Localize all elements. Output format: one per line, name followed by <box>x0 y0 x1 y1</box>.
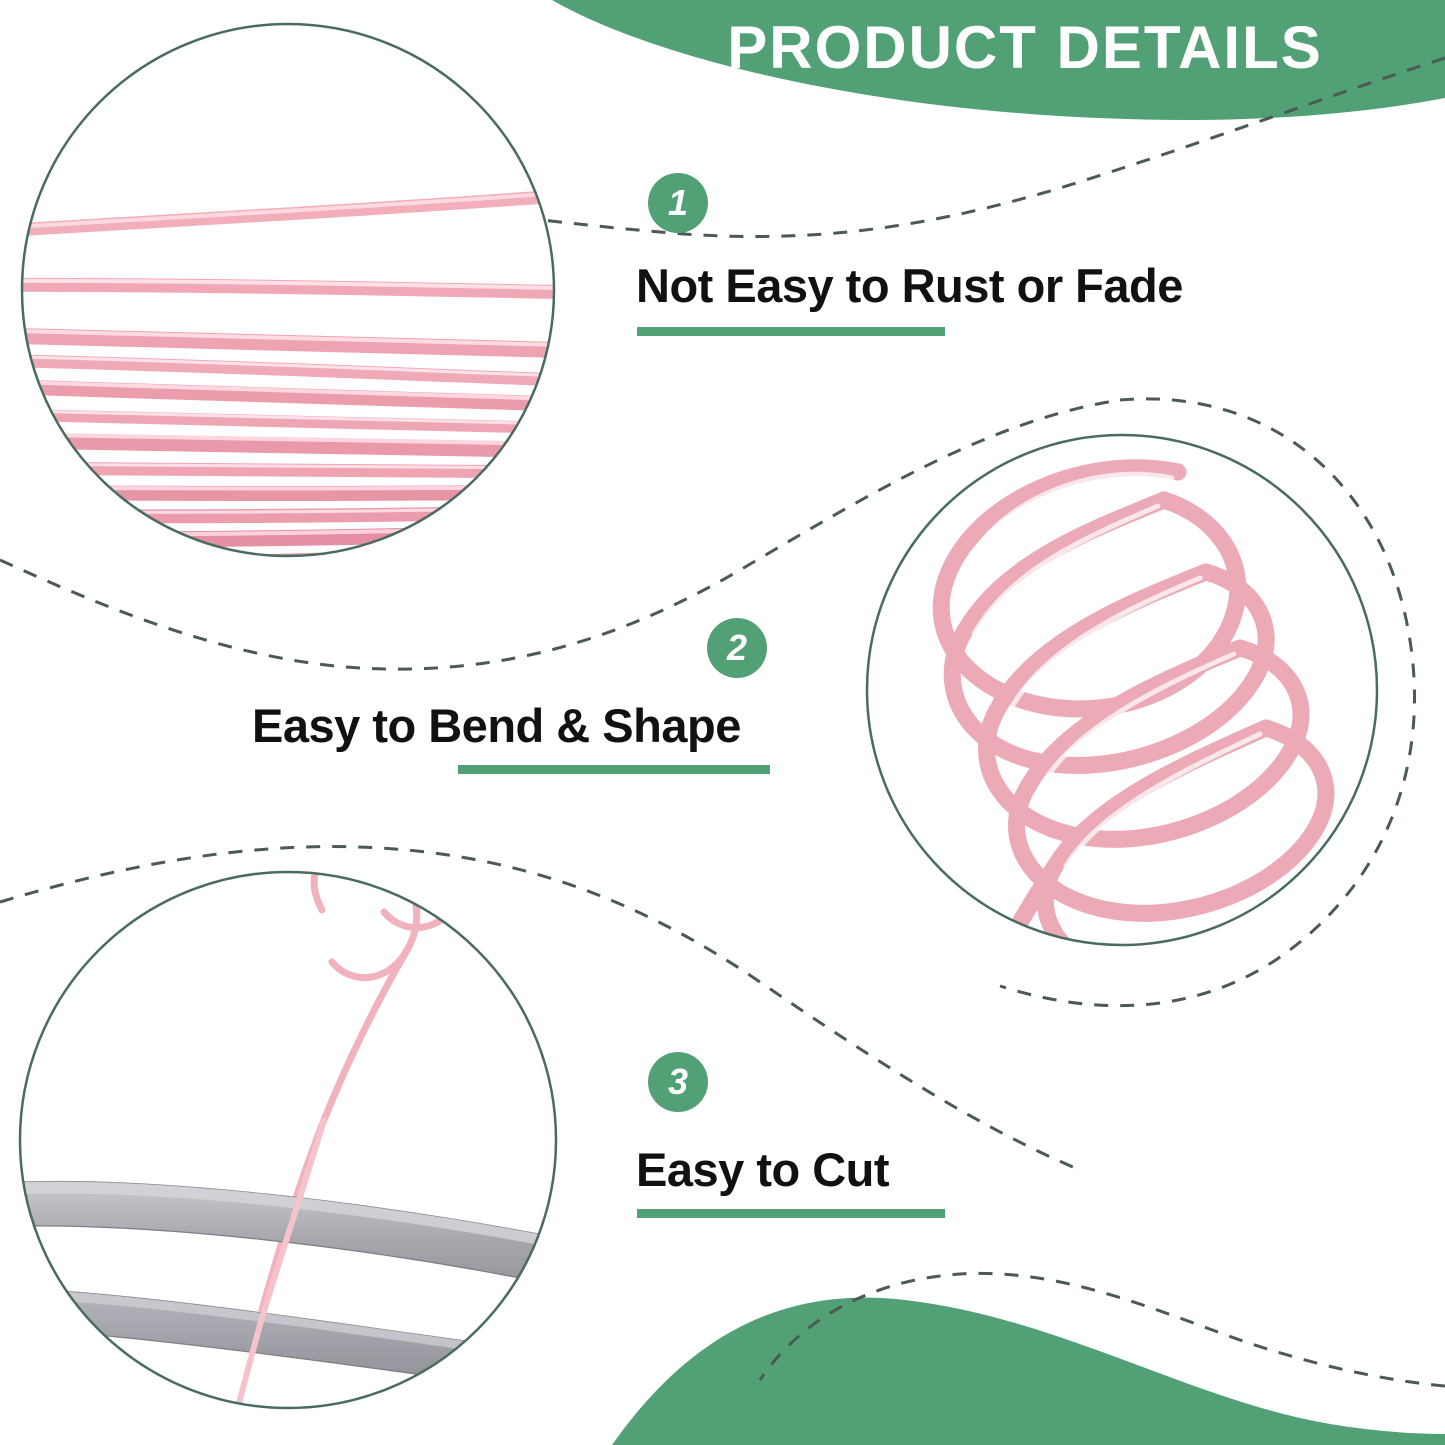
feature-image-2-spiral-coil <box>867 435 1377 1060</box>
footer-wave-shape <box>612 1298 1445 1445</box>
product-details-infographic: PRODUCT DETAILS 1 Not Easy to Rust or Fa… <box>0 0 1445 1445</box>
feature-number-badge-1: 1 <box>648 173 708 233</box>
page-title: PRODUCT DETAILS <box>620 8 1430 86</box>
feature-image-1-wire-strands <box>0 24 560 566</box>
feature-underline-1 <box>637 327 945 336</box>
feature-image-3-scissors-cutting <box>20 720 700 1430</box>
feature-number-badge-3: 3 <box>648 1052 708 1112</box>
feature-number-badge-2: 2 <box>707 618 767 678</box>
feature-headline-2: Easy to Bend & Shape <box>252 698 741 753</box>
feature-headline-1: Not Easy to Rust or Fade <box>636 258 1183 313</box>
feature-headline-3: Easy to Cut <box>636 1142 889 1197</box>
feature-underline-2 <box>458 765 770 774</box>
feature-underline-3 <box>637 1209 945 1218</box>
